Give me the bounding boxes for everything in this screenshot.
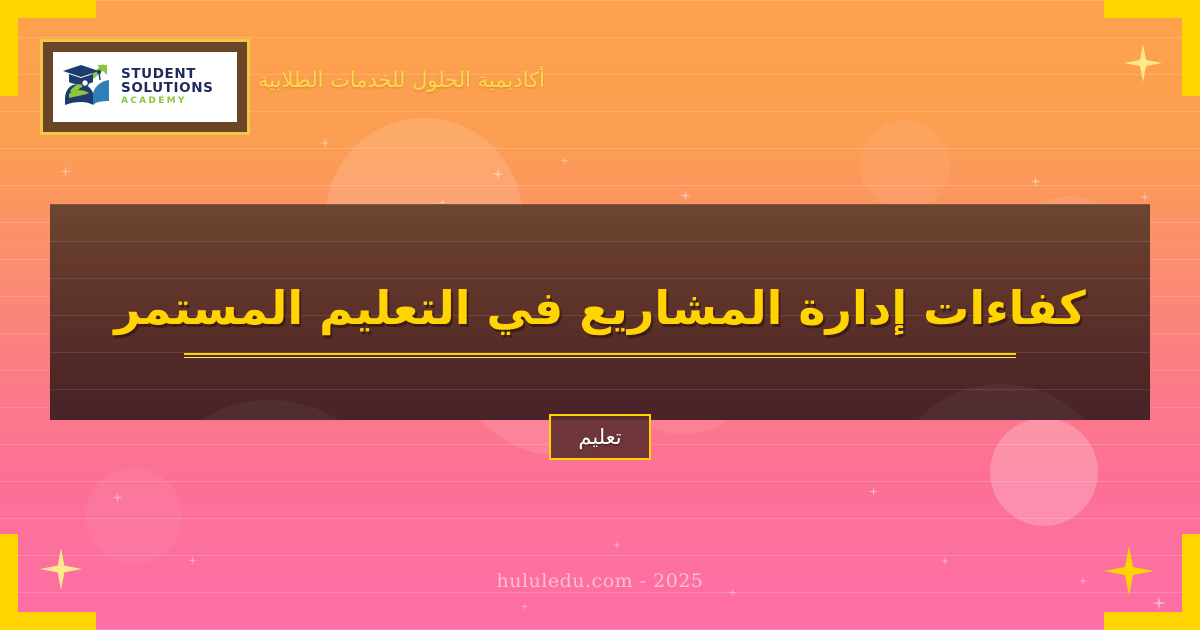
sparkle-icon (680, 190, 691, 201)
title-underline (184, 353, 1016, 358)
sparkle-icon (1140, 192, 1150, 202)
page-title: كفاءات إدارة المشاريع في التعليم المستمر (114, 280, 1086, 338)
bokeh-circle (860, 120, 950, 210)
sparkle-icon (112, 492, 123, 503)
sparkle-icon (60, 166, 71, 177)
logo-card: STUDENT SOLUTIONS ACADEMY (40, 39, 250, 135)
logo-wordmark: STUDENT SOLUTIONS ACADEMY (121, 68, 213, 106)
sparkle-icon (1124, 44, 1162, 82)
banner-canvas: STUDENT SOLUTIONS ACADEMY أكاديمية الحلو… (0, 0, 1200, 630)
title-block: كفاءات إدارة المشاريع في التعليم المستمر (50, 204, 1150, 420)
brand-arabic-name: أكاديمية الحلول للخدمات الطلابية (258, 68, 678, 92)
sparkle-icon (560, 156, 569, 165)
footer-credit: hululedu.com - 2025 (0, 570, 1200, 592)
sparkle-icon (868, 486, 879, 497)
sparkle-icon (492, 168, 504, 180)
sparkle-icon (188, 556, 197, 565)
logo-line-2: SOLUTIONS (121, 82, 213, 96)
sparkle-icon (320, 138, 330, 148)
bokeh-circle (86, 468, 182, 564)
sparkle-icon (1152, 596, 1166, 610)
graduation-cap-book-logo-icon (59, 61, 115, 113)
sparkle-icon (612, 540, 622, 550)
category-badge[interactable]: تعليم (549, 414, 651, 460)
corner-bracket-top-right (1104, 0, 1200, 96)
logo-line-3: ACADEMY (121, 97, 213, 106)
sparkle-icon (940, 556, 950, 566)
sparkle-icon (1030, 176, 1041, 187)
logo-inner: STUDENT SOLUTIONS ACADEMY (53, 52, 237, 122)
sparkle-icon (520, 602, 529, 611)
bokeh-circle (990, 418, 1098, 526)
